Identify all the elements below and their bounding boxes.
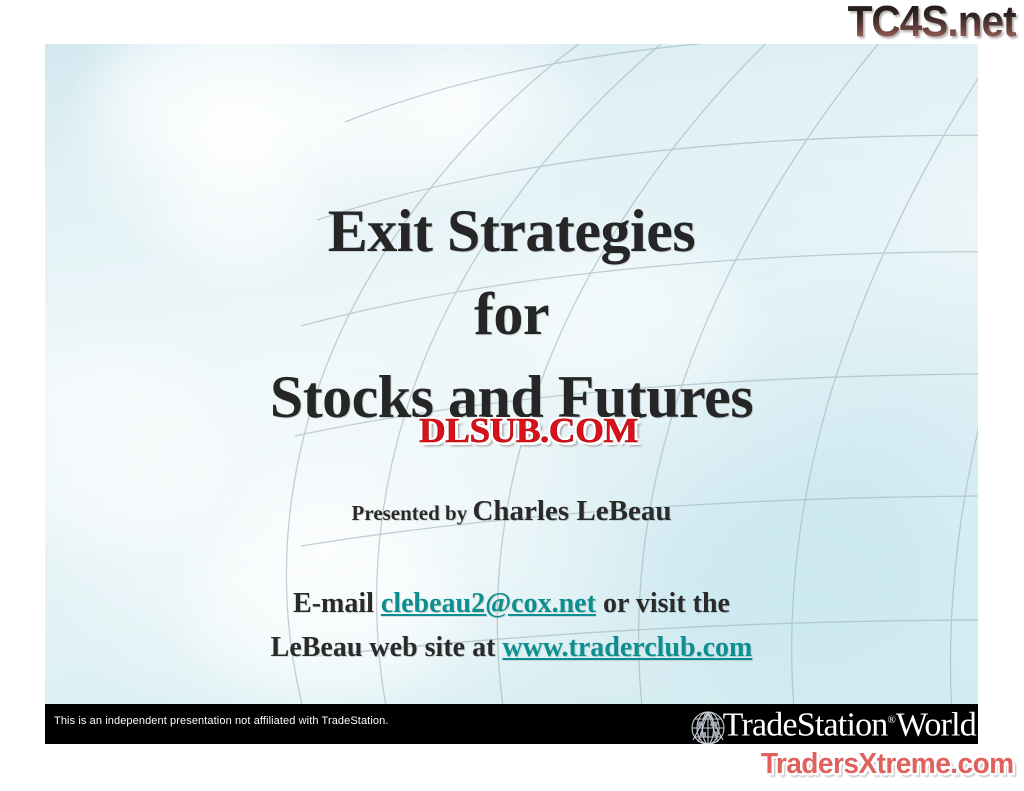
- title-line-1: Exit Strategies: [45, 190, 978, 273]
- background-cloud-blob: [105, 44, 355, 174]
- page-title: Exit Strategies for Stocks and Futures: [45, 190, 978, 439]
- slide-page: Exit Strategies for Stocks and Futures P…: [0, 0, 1024, 791]
- disclaimer-text: This is an independent presentation not …: [54, 715, 388, 727]
- registered-mark: ®: [888, 714, 896, 726]
- logo-text-part1: TradeStation: [723, 707, 888, 744]
- tradestationworld-logo: TradeStation®World: [687, 704, 976, 744]
- email-suffix-label: or visit the: [596, 588, 730, 619]
- website-line: LeBeau web site at www.traderclub.com: [45, 626, 978, 670]
- watermark-tc4s: TC4S.net: [848, 0, 1016, 46]
- website-link[interactable]: www.traderclub.com: [502, 632, 752, 663]
- email-link[interactable]: clebeau2@cox.net: [381, 588, 596, 619]
- tradestationworld-wordmark: TradeStation®World: [723, 704, 976, 743]
- presentation-slide: Exit Strategies for Stocks and Futures P…: [45, 44, 978, 744]
- email-prefix-label: E-mail: [293, 588, 381, 619]
- title-line-2: for: [45, 273, 978, 356]
- website-prefix-label: LeBeau web site at: [271, 632, 503, 663]
- presented-by-label: Presented by: [352, 501, 473, 525]
- email-line: E-mail clebeau2@cox.net or visit the: [45, 582, 978, 626]
- watermark-dlsub: DLSUB.COM: [419, 412, 638, 450]
- logo-text-part2: World: [896, 707, 976, 744]
- background-cloud-blob: [305, 64, 485, 184]
- slide-footer-bar: This is an independent presentation not …: [45, 704, 978, 744]
- watermark-tradersxtreme: TradersXtreme.com: [761, 748, 1014, 781]
- contact-block: E-mail clebeau2@cox.net or visit the LeB…: [45, 582, 978, 670]
- presenter-line: Presented by Charles LeBeau: [45, 495, 978, 528]
- presenter-name: Charles LeBeau: [472, 495, 671, 527]
